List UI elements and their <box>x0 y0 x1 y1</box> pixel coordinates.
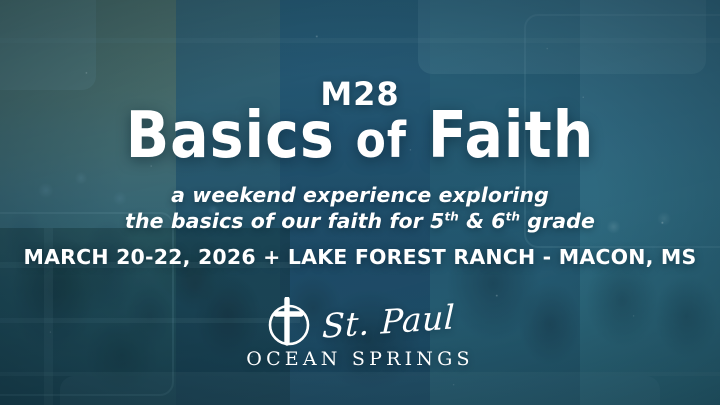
headline-word-2: of <box>356 105 407 169</box>
event-promo-poster: M28 Basics of Faith a weekend experience… <box>0 0 720 405</box>
headline-word-2-text: of <box>356 112 407 169</box>
logo-top-row: St. Paul <box>264 296 455 350</box>
event-subtitle: a weekend experience exploring the basic… <box>0 182 720 234</box>
poster-content: M28 Basics of Faith a weekend experience… <box>0 0 720 405</box>
event-date-location: MARCH 20-22, 2026 + LAKE FOREST RANCH - … <box>0 245 720 269</box>
grade-5-ordinal-suffix: th <box>445 210 459 224</box>
page-title: Basics of Faith <box>0 105 720 169</box>
subtitle-line-1: a weekend experience exploring <box>0 182 720 208</box>
headline-word-1: Basics <box>126 105 335 169</box>
subtitle-line-2-pre: the basics of our faith for 5 <box>125 209 444 233</box>
subtitle-line-2: the basics of our faith for 5th & 6th gr… <box>0 208 720 234</box>
grade-6-ordinal-suffix: th <box>506 210 520 224</box>
headline-word-3: Faith <box>428 105 594 169</box>
cross-in-circle-icon <box>264 297 316 349</box>
logo-script-name: St. Paul <box>322 300 456 342</box>
headline-word-3-text: Faith <box>428 99 594 173</box>
church-logo: St. Paul OCEAN SPRINGS <box>0 296 720 370</box>
subtitle-line-2-post: grade <box>520 209 595 233</box>
subtitle-line-2-mid: & 6 <box>459 209 506 233</box>
headline-word-1-text: Basics <box>126 99 335 173</box>
logo-location-label: OCEAN SPRINGS <box>246 348 473 370</box>
